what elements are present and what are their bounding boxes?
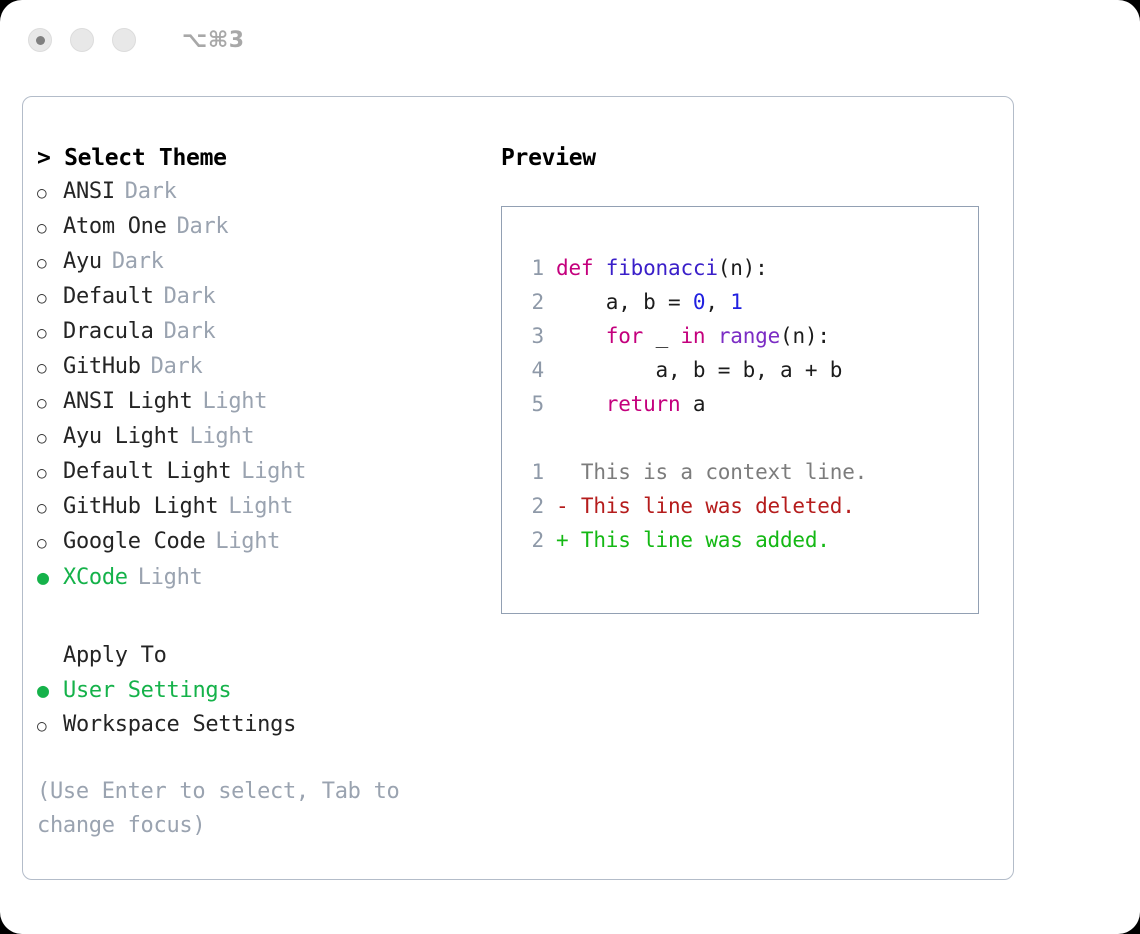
code-line: 4 a, b = b, a + b: [522, 353, 978, 387]
theme-option-xcode[interactable]: ●XCodeLight: [37, 560, 487, 595]
select-theme-heading: > Select Theme: [37, 141, 487, 175]
theme-option-github-light[interactable]: ○GitHub LightLight: [37, 490, 487, 525]
diff-line-number: 1: [522, 455, 544, 489]
code-token: a, b =: [556, 290, 693, 314]
code-token: 0: [693, 290, 705, 314]
code-token: return: [606, 392, 681, 416]
diff-line-number: 2: [522, 489, 544, 523]
window-controls: [28, 28, 136, 52]
code-token: fibonacci: [606, 256, 718, 280]
code-diff-gap: [522, 421, 978, 455]
code-token: (n):: [780, 324, 830, 348]
radio-unselected-icon: ○: [37, 351, 63, 385]
code-token: def: [556, 256, 606, 280]
code-token: a, b = b, a + b: [556, 358, 842, 382]
apply-to-option-workspace-settings[interactable]: ○Workspace Settings: [37, 708, 487, 743]
hint-spacer: [37, 743, 487, 775]
apply-to-option-label: User Settings: [63, 674, 231, 708]
line-number: 2: [522, 285, 544, 319]
radio-unselected-icon: ○: [37, 386, 63, 420]
code-token: (n):: [718, 256, 768, 280]
window-titlebar: ⌥⌘3: [0, 0, 1140, 80]
radio-unselected-icon: ○: [37, 246, 63, 280]
apply-to-heading: Apply To: [37, 639, 487, 673]
theme-option-ansi-light[interactable]: ○ANSI LightLight: [37, 385, 487, 420]
code-line: 1def fibonacci(n):: [522, 251, 978, 285]
keyboard-shortcut-label: ⌥⌘3: [182, 28, 245, 53]
theme-option-label: Google Code: [63, 525, 205, 559]
radio-unselected-icon: ○: [37, 491, 63, 525]
theme-option-ansi[interactable]: ○ANSIDark: [37, 175, 487, 210]
code-line: 5 return a: [522, 387, 978, 421]
line-number: 1: [522, 251, 544, 285]
code-token: ,: [705, 290, 730, 314]
code-sample: 1def fibonacci(n):2 a, b = 0, 13 for _ i…: [522, 251, 978, 421]
code-token: [556, 392, 606, 416]
theme-option-ayu[interactable]: ○AyuDark: [37, 245, 487, 280]
theme-option-label: GitHub: [63, 350, 141, 384]
code-token: [556, 324, 606, 348]
radio-unselected-icon: ○: [37, 176, 63, 210]
theme-list: ○ANSIDark○Atom OneDark○AyuDark○DefaultDa…: [37, 175, 487, 595]
radio-unselected-icon: ○: [37, 316, 63, 350]
diff-line-text: + This line was added.: [556, 528, 830, 552]
theme-variant-tag: Light: [231, 455, 306, 489]
diff-line: 1 This is a context line.: [522, 455, 978, 489]
apply-to-list: ●User Settings○Workspace Settings: [37, 673, 487, 743]
theme-option-label: Ayu Light: [63, 420, 180, 454]
radio-unselected-icon: ○: [37, 709, 63, 743]
theme-option-google-code[interactable]: ○Google CodeLight: [37, 525, 487, 560]
diff-line-text: - This line was deleted.: [556, 494, 855, 518]
theme-option-label: ANSI Light: [63, 385, 192, 419]
theme-picker-column: > Select Theme ○ANSIDark○Atom OneDark○Ay…: [37, 141, 487, 843]
radio-unselected-icon: ○: [37, 456, 63, 490]
window-dot-2-icon[interactable]: [70, 28, 94, 52]
radio-unselected-icon: ○: [37, 211, 63, 245]
theme-variant-tag: Dark: [102, 245, 164, 279]
theme-variant-tag: Light: [218, 490, 293, 524]
theme-variant-tag: Dark: [154, 315, 216, 349]
code-line: 2 a, b = 0, 1: [522, 285, 978, 319]
window-dot-active-icon[interactable]: [28, 28, 52, 52]
section-spacer: [37, 595, 487, 639]
code-token: for: [606, 324, 643, 348]
window-dot-3-icon[interactable]: [112, 28, 136, 52]
theme-option-label: Ayu: [63, 245, 102, 279]
radio-selected-icon: ●: [37, 673, 63, 707]
line-number: 5: [522, 387, 544, 421]
theme-variant-tag: Dark: [115, 175, 177, 209]
radio-unselected-icon: ○: [37, 421, 63, 455]
theme-variant-tag: Dark: [167, 210, 229, 244]
radio-unselected-icon: ○: [37, 526, 63, 560]
apply-to-option-user-settings[interactable]: ●User Settings: [37, 673, 487, 708]
theme-option-label: Default: [63, 280, 154, 314]
preview-column: Preview 1def fibonacci(n):2 a, b = 0, 13…: [501, 141, 1001, 614]
code-line: 3 for _ in range(n):: [522, 319, 978, 353]
theme-option-label: Atom One: [63, 210, 167, 244]
theme-variant-tag: Light: [128, 561, 203, 595]
window-dot-active-inner: [36, 36, 45, 45]
theme-variant-tag: Dark: [154, 280, 216, 314]
code-token: _: [643, 324, 680, 348]
preview-box: 1def fibonacci(n):2 a, b = 0, 13 for _ i…: [501, 206, 979, 614]
theme-variant-tag: Light: [192, 385, 267, 419]
theme-variant-tag: Dark: [141, 350, 203, 384]
code-token: [705, 324, 717, 348]
diff-line-number: 2: [522, 523, 544, 557]
line-number: 4: [522, 353, 544, 387]
main-panel: > Select Theme ○ANSIDark○Atom OneDark○Ay…: [22, 96, 1014, 880]
theme-variant-tag: Light: [180, 420, 255, 454]
diff-line-text: This is a context line.: [556, 460, 867, 484]
diff-line: 2- This line was deleted.: [522, 489, 978, 523]
theme-option-github[interactable]: ○GitHubDark: [37, 350, 487, 385]
diff-sample: 1 This is a context line.2- This line wa…: [522, 455, 978, 557]
theme-option-label: GitHub Light: [63, 490, 218, 524]
theme-option-label: Default Light: [63, 455, 231, 489]
theme-option-label: XCode: [63, 561, 128, 595]
app-window: ⌥⌘3 > Select Theme ○ANSIDark○Atom OneDar…: [0, 0, 1140, 934]
theme-option-atom-one[interactable]: ○Atom OneDark: [37, 210, 487, 245]
theme-option-default-light[interactable]: ○Default LightLight: [37, 455, 487, 490]
theme-option-dracula[interactable]: ○DraculaDark: [37, 315, 487, 350]
theme-option-label: Dracula: [63, 315, 154, 349]
radio-selected-icon: ●: [37, 560, 63, 594]
code-token: 1: [730, 290, 742, 314]
preview-heading: Preview: [501, 141, 1001, 175]
radio-unselected-icon: ○: [37, 281, 63, 315]
theme-option-default[interactable]: ○DefaultDark: [37, 280, 487, 315]
line-number: 3: [522, 319, 544, 353]
theme-option-ayu-light[interactable]: ○Ayu LightLight: [37, 420, 487, 455]
theme-option-label: ANSI: [63, 175, 115, 209]
theme-variant-tag: Light: [205, 525, 280, 559]
apply-to-option-label: Workspace Settings: [63, 708, 296, 742]
keyboard-hint-text: (Use Enter to select, Tab to change focu…: [37, 775, 437, 843]
diff-line: 2+ This line was added.: [522, 523, 978, 557]
code-token: a: [680, 392, 705, 416]
code-token: range: [718, 324, 780, 348]
code-token: in: [680, 324, 705, 348]
